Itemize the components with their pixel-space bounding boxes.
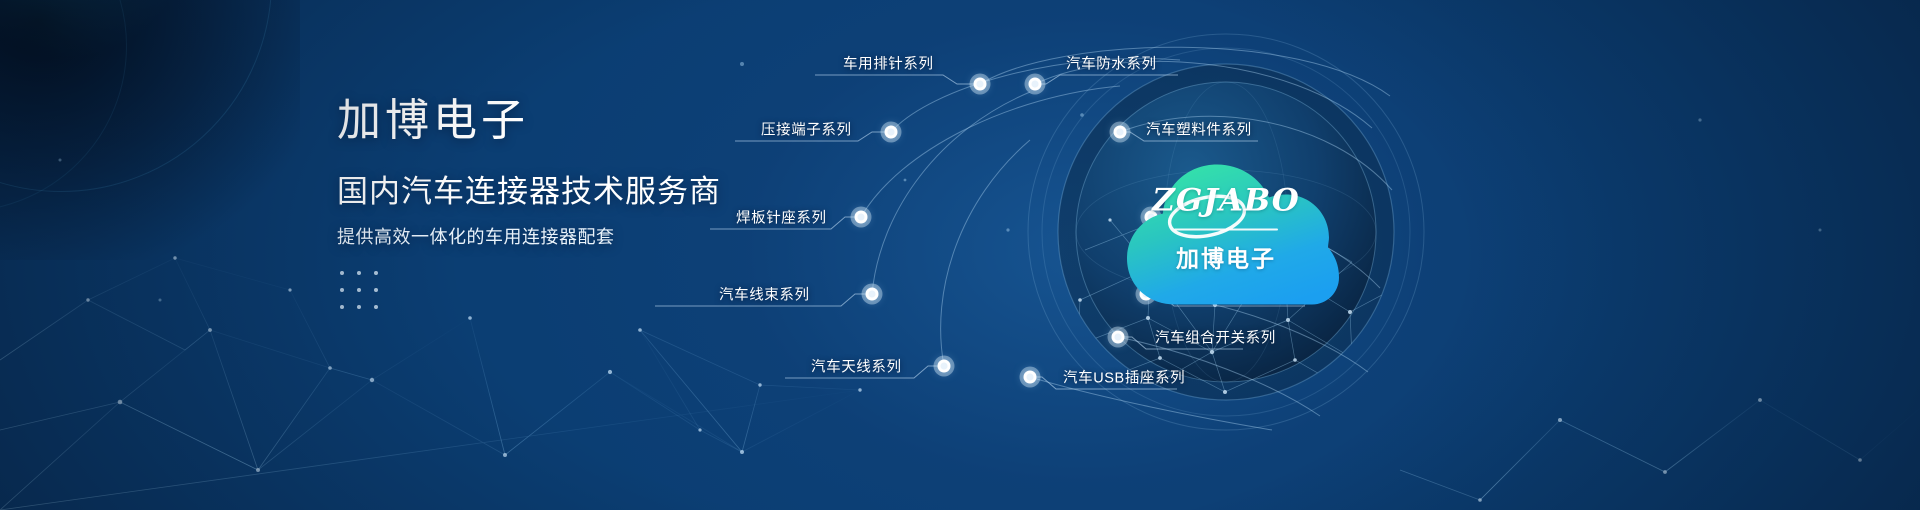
hero-banner: 车用排针系列汽车防水系列压接端子系列汽车塑料件系列焊板针座系列汽车连接器系列汽车… [0,0,1920,510]
background-vignette [0,0,1920,510]
